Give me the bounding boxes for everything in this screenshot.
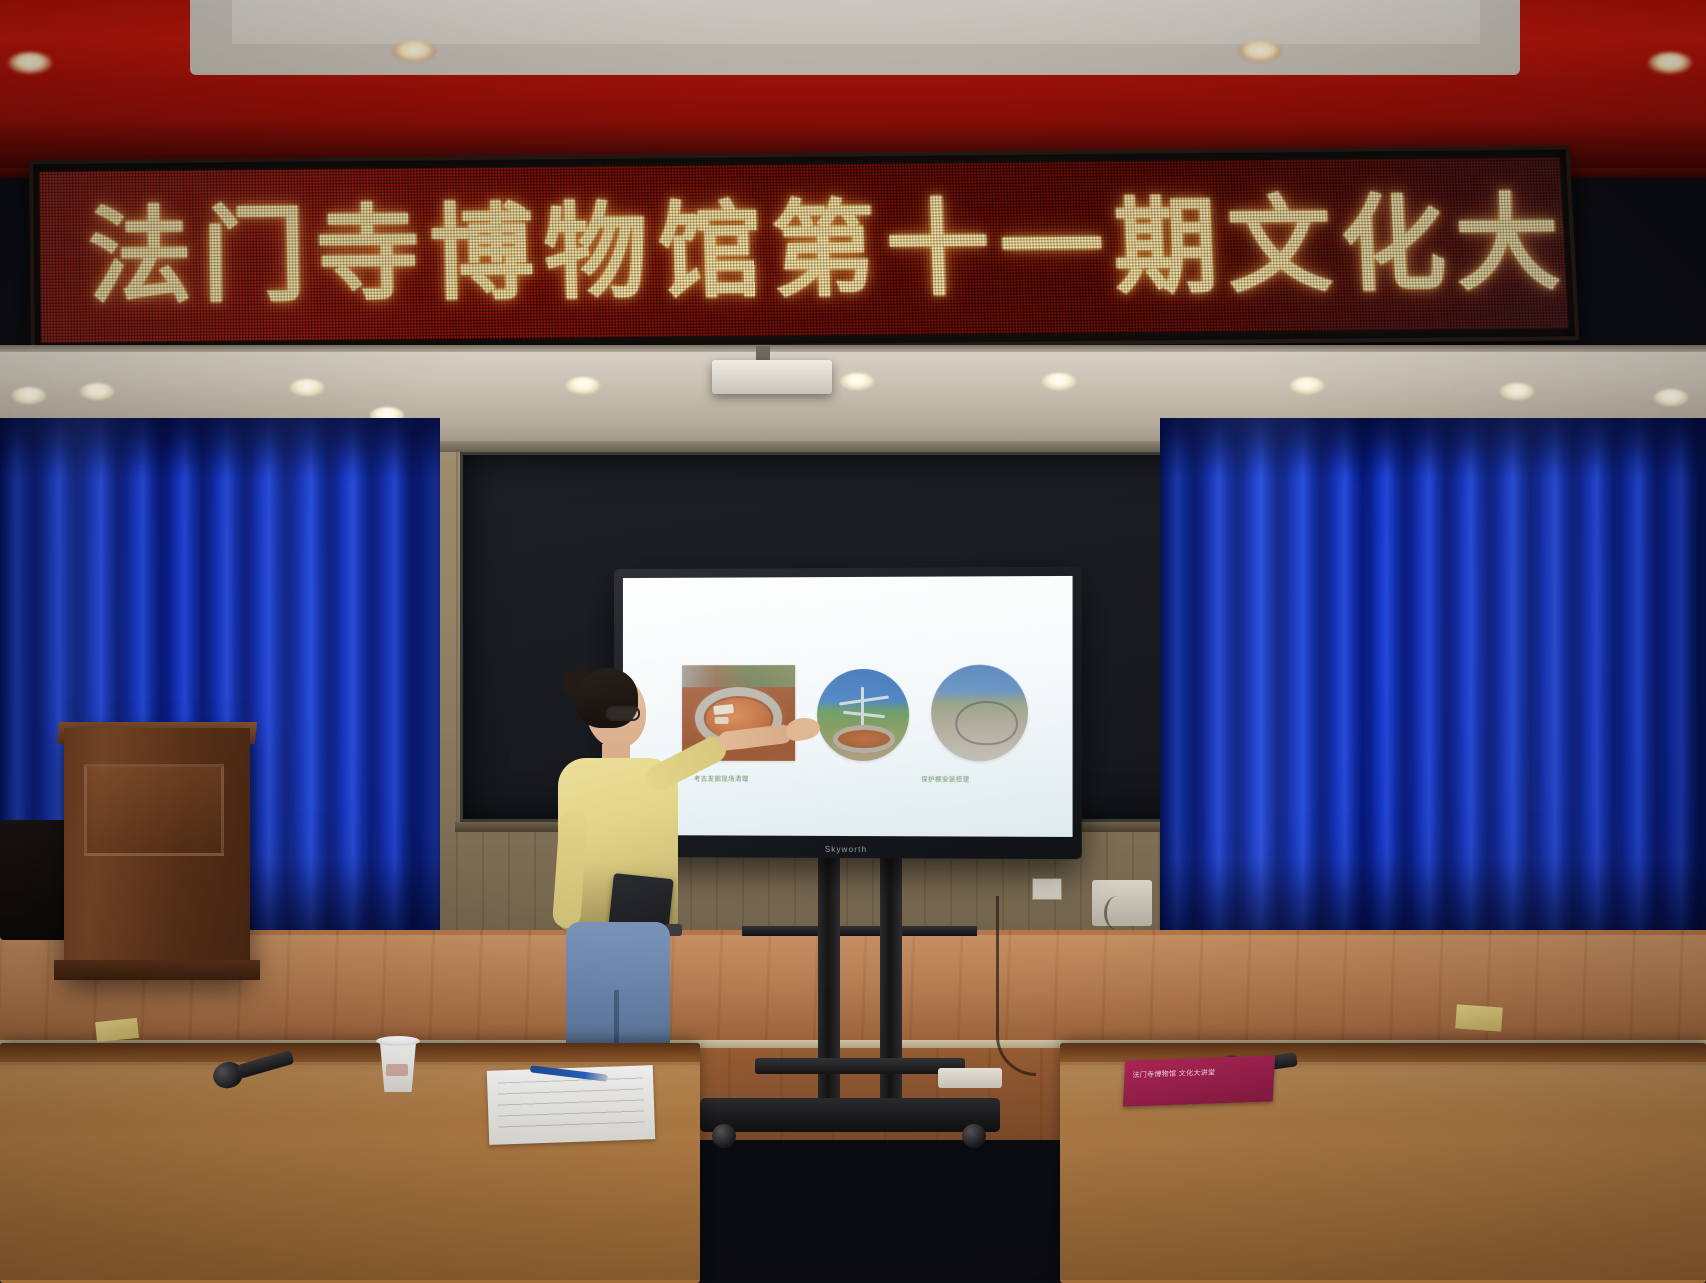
soffit-downlight-icon	[290, 379, 324, 396]
soffit-downlight-icon	[566, 377, 600, 394]
lecture-hall-scene: 法门寺博物馆第十一期文化大讲堂	[0, 0, 1706, 1280]
soffit-downlight-icon	[1042, 373, 1076, 390]
presentation-slide: 考古发掘现场清理 保护棚安装搭建	[623, 576, 1073, 837]
soffit-downlight-icon	[80, 383, 114, 400]
tv-stand-base	[700, 1098, 1000, 1132]
dome-base-pit	[833, 725, 895, 753]
ceiling-downlight-icon	[1238, 40, 1282, 62]
dome-frame-bar	[839, 696, 889, 706]
floor-cable	[1104, 896, 1130, 930]
red-name-card-text: 法门寺博物馆 文化大讲堂	[1132, 1066, 1266, 1081]
soffit-downlight-icon	[1654, 389, 1688, 406]
ceiling-downlight-icon	[8, 52, 52, 74]
paper-cup-logo	[386, 1064, 408, 1076]
power-cable	[996, 896, 1036, 1076]
ceiling-downlight-icon	[1648, 52, 1692, 74]
ceiling-projector	[712, 360, 832, 394]
wooden-lectern	[64, 728, 250, 978]
soffit-downlight-icon	[840, 373, 874, 390]
eyeglasses-icon	[606, 706, 640, 721]
wall-power-outlet[interactable]	[1032, 878, 1062, 900]
slide-photo-dome-construction	[817, 669, 909, 761]
lectern-front-panel	[84, 764, 224, 856]
soffit-downlight-icon	[1500, 383, 1534, 400]
slide-photo-completed-dome	[931, 665, 1028, 762]
tv-screen[interactable]: 考古发掘现场清理 保护棚安装搭建	[623, 576, 1073, 837]
power-strip[interactable]	[938, 1068, 1002, 1088]
soffit-downlight-icon	[12, 387, 46, 404]
caster-wheel-icon	[712, 1124, 736, 1148]
photo-top-strip	[682, 665, 795, 687]
soffit-downlight-icon	[1290, 377, 1324, 394]
soffit-top-trim	[0, 345, 1706, 352]
notepad-ruled-lines	[497, 1077, 645, 1130]
tv-brand-logo: Skyworth	[825, 845, 867, 854]
led-banner-frame: 法门寺博物馆第十一期文化大讲堂	[29, 146, 1579, 356]
lectern-base	[54, 960, 260, 980]
led-banner-screen: 法门寺博物馆第十一期文化大讲堂	[39, 158, 1569, 343]
red-name-card: 法门寺博物馆 文化大讲堂	[1123, 1055, 1275, 1106]
led-banner: 法门寺博物馆第十一期文化大讲堂	[29, 146, 1579, 356]
dome-steel-cage	[955, 701, 1018, 745]
tv-stand-upper-shelf	[742, 926, 977, 936]
tv-stand-lower-shelf	[755, 1058, 965, 1074]
ceiling-inset-panel-inner	[232, 0, 1480, 44]
slide-caption-2: 保护棚安装搭建	[921, 773, 970, 783]
caster-wheel-icon	[962, 1124, 986, 1148]
paper-cup-rim	[376, 1036, 420, 1046]
ceiling-downlight-icon	[392, 40, 436, 62]
slide-caption-1: 考古发掘现场清理	[694, 773, 749, 783]
pit-stone-fragment	[715, 717, 729, 724]
dome-frame-bar	[843, 711, 885, 718]
led-banner-text: 法门寺博物馆第十一期文化大讲堂	[87, 191, 1520, 309]
female-presenter	[540, 660, 690, 1080]
floor-reflection	[0, 935, 1706, 1045]
stage-curtain-right	[1160, 418, 1706, 978]
yellow-name-tag	[1455, 1004, 1503, 1031]
